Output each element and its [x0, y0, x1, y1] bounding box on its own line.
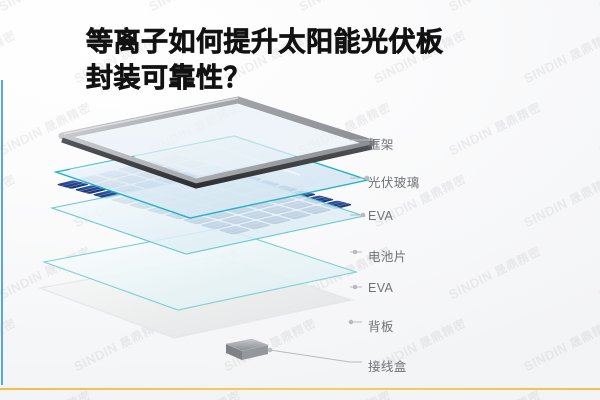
label-eva-top: EVA	[368, 209, 393, 223]
layer-label-list: 框架 光伏玻璃 EVA 电池片 EVA 背板 接线盒	[0, 0, 600, 400]
label-cells: 电池片	[368, 246, 407, 265]
infographic-canvas: SINDIN 晟鼎精密SINDIN 晟鼎精密SINDIN 晟鼎精密SINDIN …	[0, 0, 600, 400]
label-frame: 框架	[368, 134, 394, 153]
label-eva-bottom: EVA	[368, 281, 393, 295]
label-backsheet: 背板	[368, 316, 394, 335]
label-junction-box: 接线盒	[368, 356, 407, 375]
label-pv-glass: 光伏玻璃	[368, 172, 420, 191]
